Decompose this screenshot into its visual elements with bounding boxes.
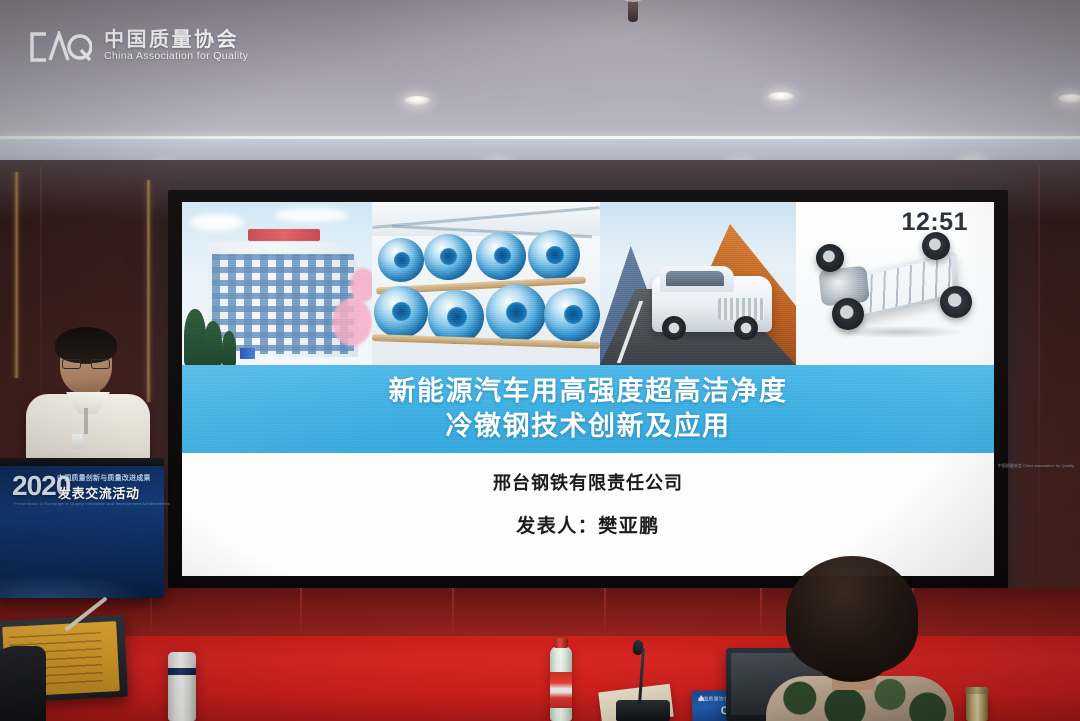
ceiling-downlight xyxy=(404,96,430,105)
slide-clock: 12:51 xyxy=(902,208,968,237)
slide-title-line-2: 冷镦钢技术创新及应用 xyxy=(446,410,731,443)
glasses-icon xyxy=(62,359,110,369)
sprinkler-icon xyxy=(628,0,638,22)
slide-presenter: 发表人：樊亚鹏 xyxy=(182,511,994,538)
wall-panel-seam xyxy=(1038,166,1040,576)
slide-organization: 邢台钢铁有限责任公司 xyxy=(182,469,994,495)
microphone-base xyxy=(616,700,670,721)
podium-banner-org-note: 中国质量协会 China Association for Quality xyxy=(998,463,1074,469)
name-badge xyxy=(72,434,83,449)
conference-photo-scene: 12:51 新能源汽车用高强度超高洁净度 冷镦钢技术创新及应用 邢台钢铁有限责任… xyxy=(0,0,1080,721)
podium-banner-subtitle: 中国质量创新与质量改进成果 xyxy=(57,473,151,483)
office-building-photo xyxy=(182,202,372,365)
ceiling xyxy=(0,0,1080,172)
water-bottle xyxy=(550,646,572,721)
wall-gold-trim xyxy=(14,172,19,378)
attendee-arm xyxy=(0,646,46,721)
led-screen-display: 12:51 新能源汽车用高强度超高洁净度 冷镦钢技术创新及应用 邢台钢铁有限责任… xyxy=(182,202,994,576)
caq-logo-icon xyxy=(28,31,92,63)
ceiling-downlight xyxy=(1058,94,1080,103)
slide-title-line-1: 新能源汽车用高强度超高洁净度 xyxy=(389,375,788,408)
building-signage xyxy=(248,229,320,241)
steel-coils-photo xyxy=(372,202,600,365)
seated-attendee xyxy=(770,556,955,721)
caq-logo-name-cn: 中国质量协会 xyxy=(104,30,248,50)
caq-logo-name-en: China Association for Quality xyxy=(104,51,248,62)
caq-watermark-logo: 中国质量协会 China Association for Quality xyxy=(28,30,248,63)
thermos-cup xyxy=(168,652,196,721)
glass-jar xyxy=(966,692,988,721)
slide-photo-strip xyxy=(182,202,994,365)
slide-title-band: 新能源汽车用高强度超高洁净度 冷镦钢技术创新及应用 xyxy=(182,365,994,453)
placard-org-text: 中国质量协会 xyxy=(698,695,730,703)
podium-banner-title: 发表交流活动 xyxy=(58,483,140,502)
flag-icon xyxy=(240,348,255,359)
suv-on-road-photo xyxy=(600,202,796,365)
led-screen-bezel: 12:51 新能源汽车用高强度超高洁净度 冷镦钢技术创新及应用 邢台钢铁有限责任… xyxy=(168,190,1008,588)
podium-banner-fineprint: Presentation & Exchange of Quality Innov… xyxy=(14,501,170,506)
ceiling-downlight xyxy=(768,92,794,101)
